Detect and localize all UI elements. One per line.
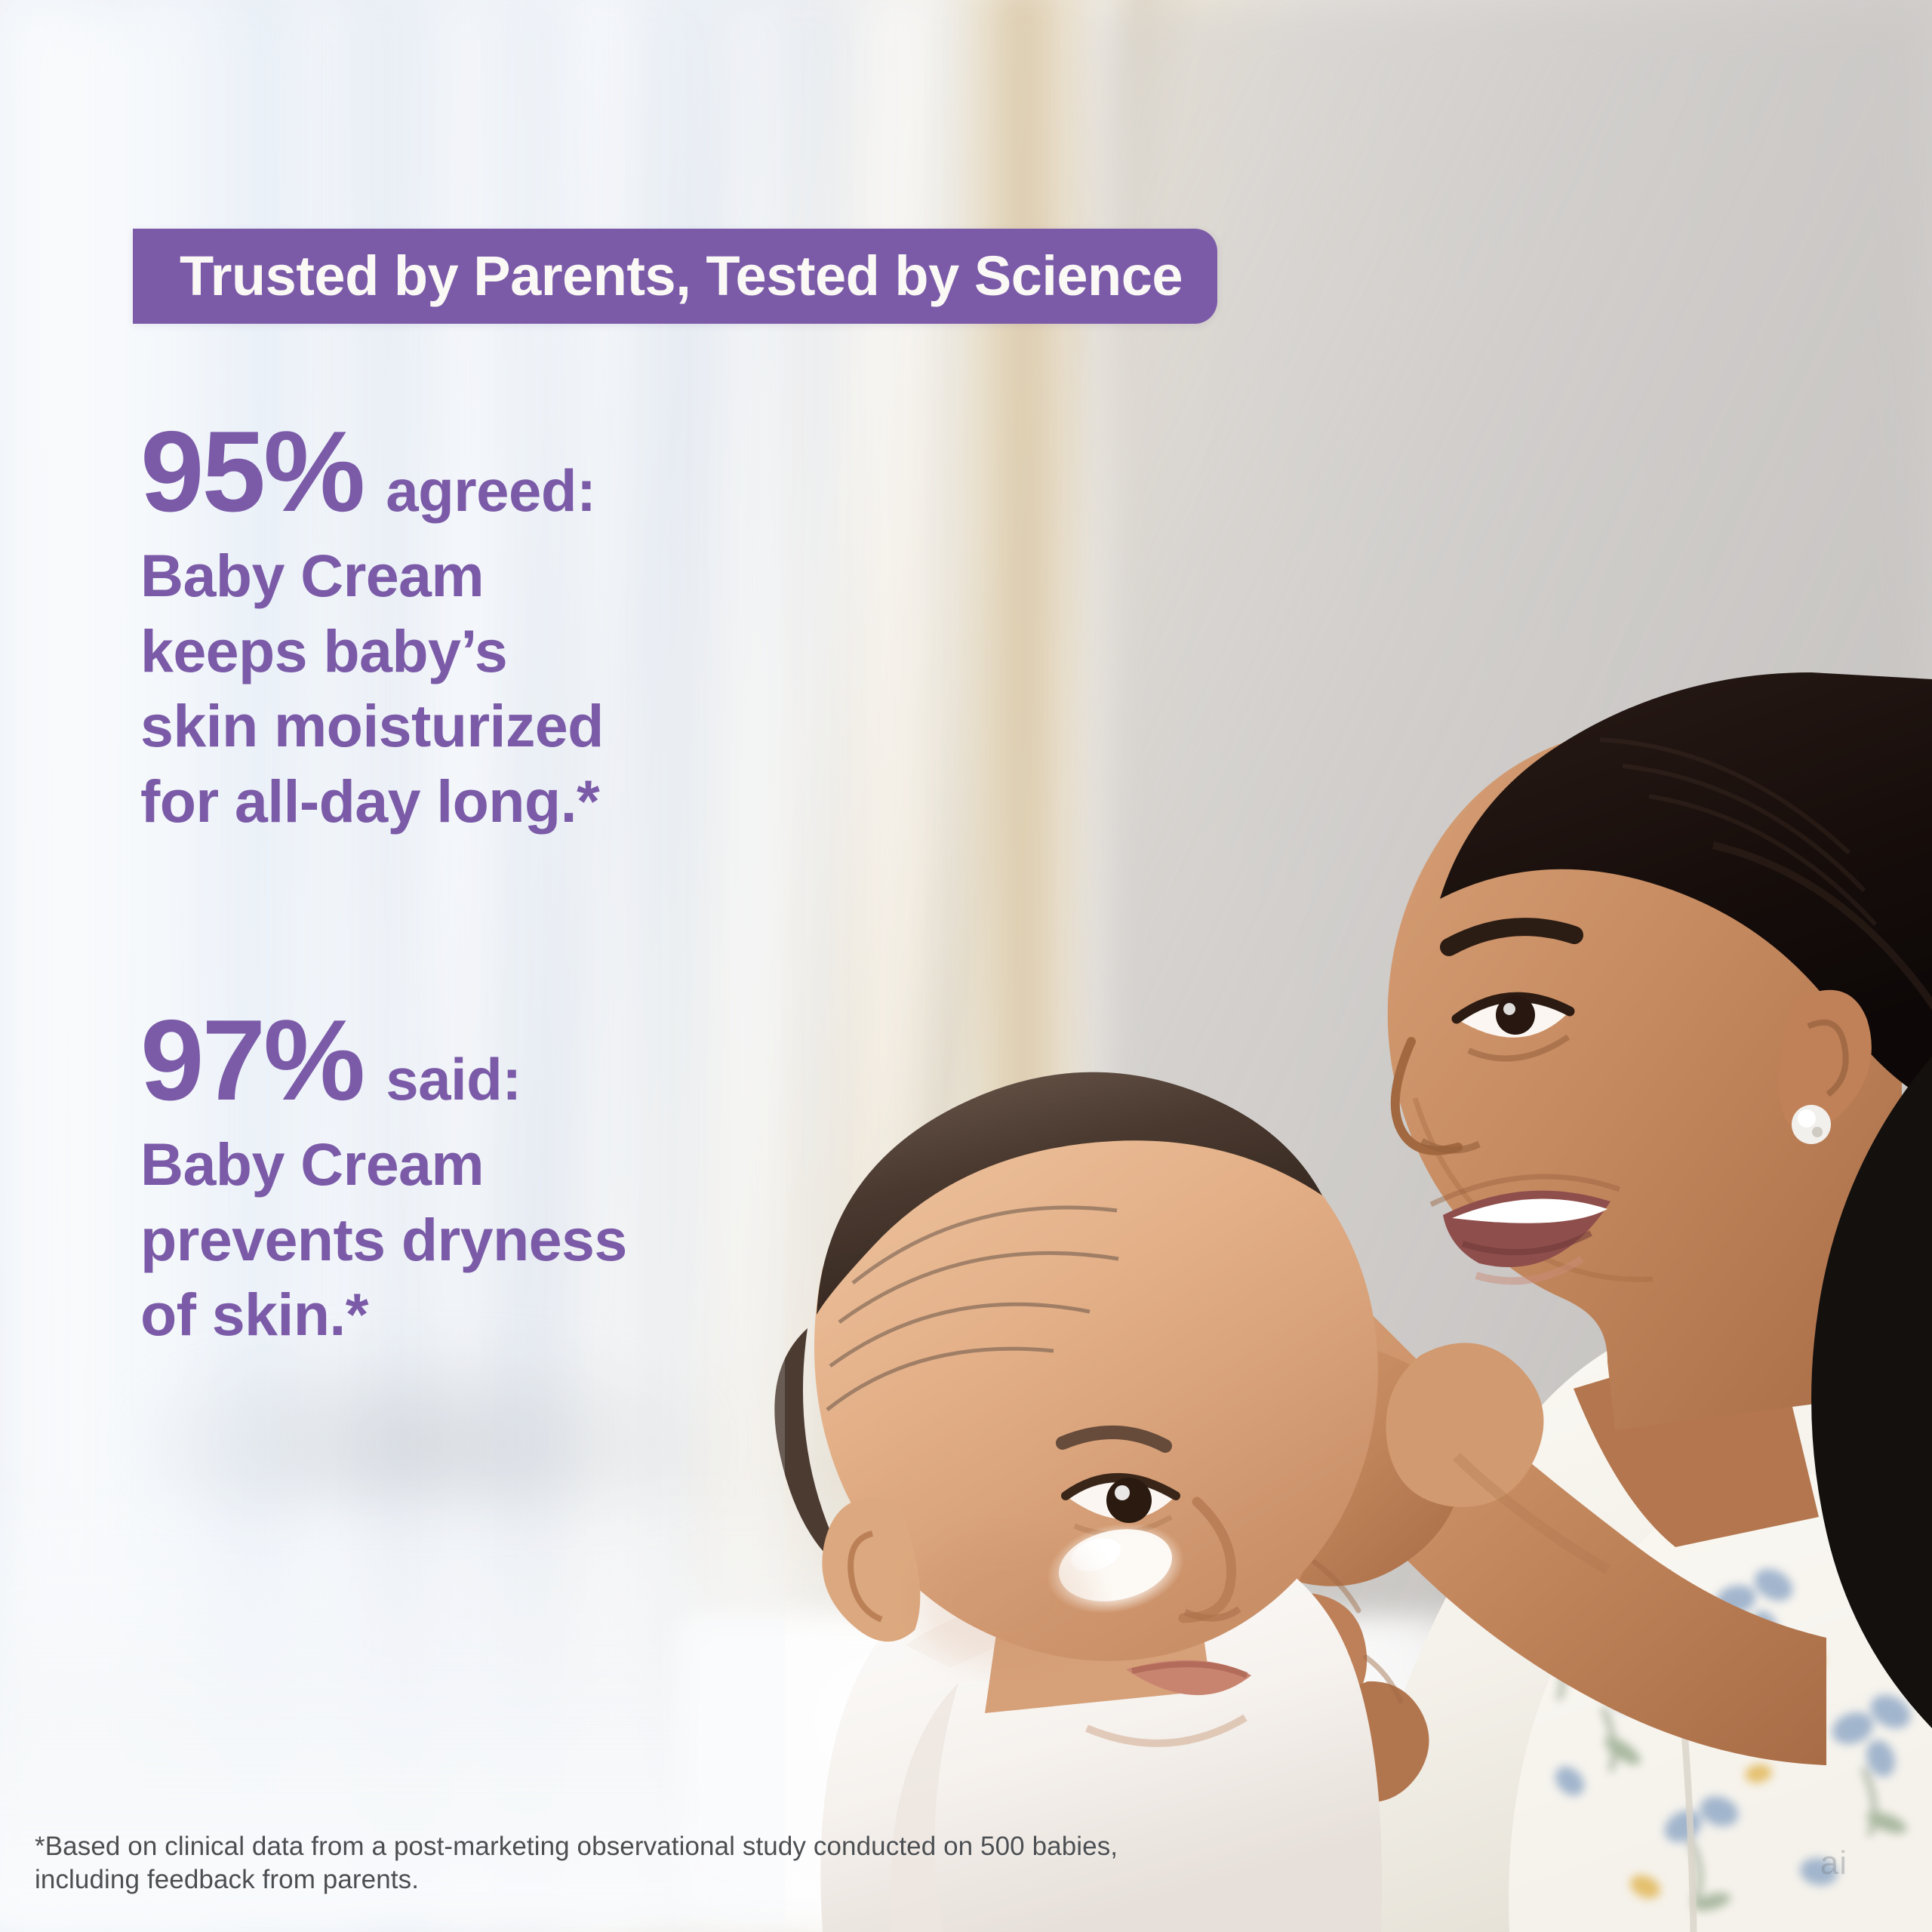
stat-headline-95: 95% agreed: [140, 414, 604, 531]
stat-verb-95: agreed: [386, 461, 595, 520]
headline-text: Trusted by Parents, Tested by Science [180, 248, 1183, 304]
stat-verb-97: said: [386, 1050, 521, 1109]
ai-watermark: ai [1820, 1844, 1847, 1882]
ad-creative: Trusted by Parents, Tested by Science 95… [0, 0, 1932, 1932]
stat-claim-97: Baby Cream prevents dryness of skin.* [140, 1127, 627, 1352]
stat-percent-95: 95% [140, 414, 363, 531]
stat-block-97: 97% said: Baby Cream prevents dryness of… [140, 1002, 627, 1352]
headline-banner: Trusted by Parents, Tested by Science [133, 229, 1217, 324]
stat-block-95: 95% agreed: Baby Cream keeps baby’s skin… [140, 414, 604, 838]
disclaimer-footnote: *Based on clinical data from a post-mark… [35, 1830, 1118, 1896]
text-overlay: Trusted by Parents, Tested by Science 95… [0, 0, 1932, 1932]
stat-percent-97: 97% [140, 1002, 363, 1119]
stat-claim-95: Baby Cream keeps baby’s skin moisturized… [140, 538, 604, 838]
stat-headline-97: 97% said: [140, 1002, 627, 1119]
